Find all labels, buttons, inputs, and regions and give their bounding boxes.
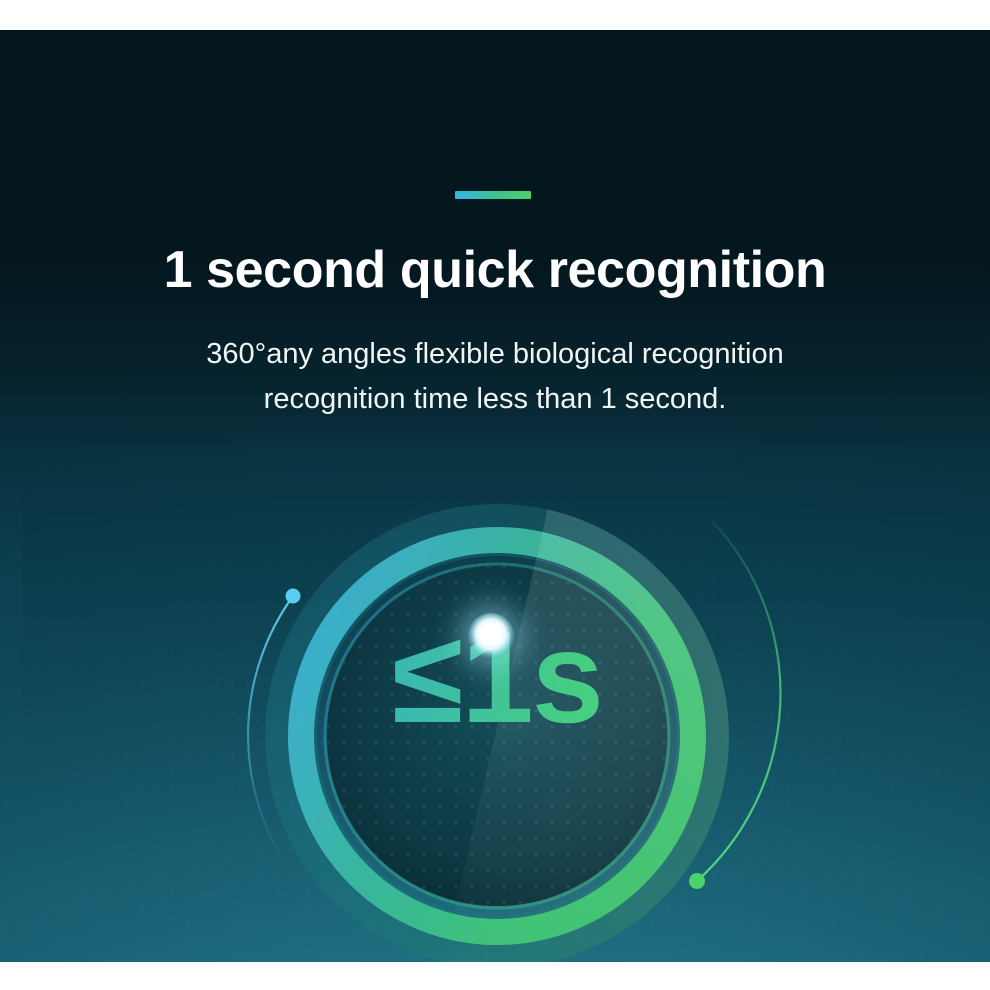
speed-ring-graphic: ≤1s xyxy=(197,436,797,962)
subtitle-line-2: recognition time less than 1 second. xyxy=(0,377,990,422)
page-subtitle: 360°any angles flexible biological recog… xyxy=(0,332,990,422)
hero-banner: 1 second quick recognition 360°any angle… xyxy=(0,0,990,990)
hero-panel: 1 second quick recognition 360°any angle… xyxy=(0,30,990,962)
orbit-dot-right xyxy=(689,873,705,889)
accent-bar xyxy=(455,191,531,199)
subtitle-line-1: 360°any angles flexible biological recog… xyxy=(0,332,990,377)
progress-glow-dot xyxy=(468,613,514,659)
orbit-dot-left xyxy=(286,589,301,604)
page-title: 1 second quick recognition xyxy=(0,240,990,301)
